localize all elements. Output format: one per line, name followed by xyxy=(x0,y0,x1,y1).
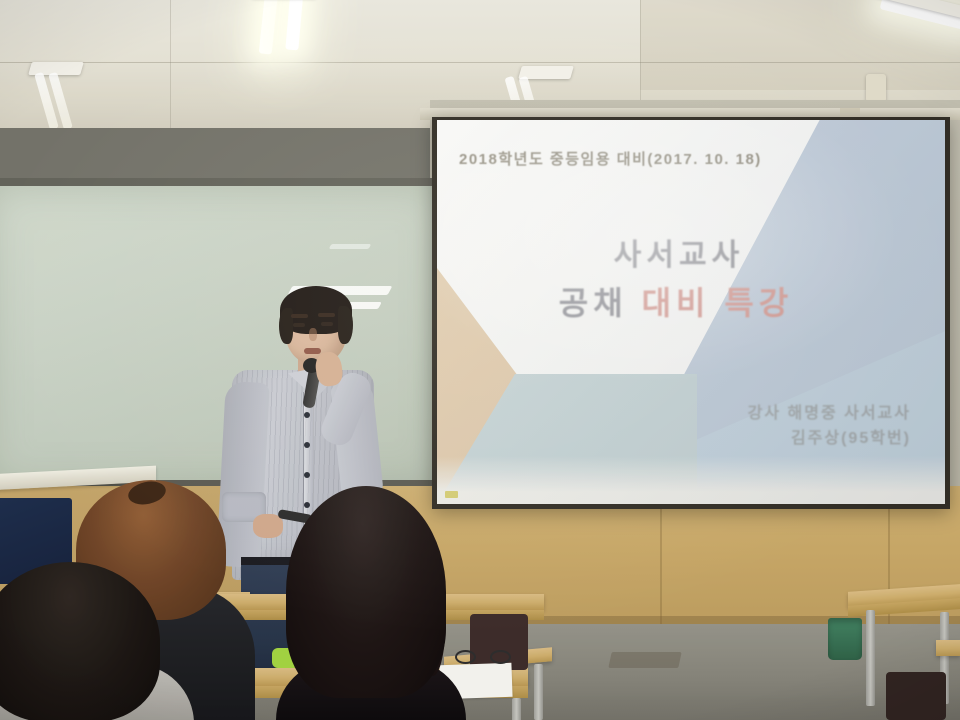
shirt-button xyxy=(304,442,310,448)
floor-vent xyxy=(608,652,681,668)
desk-leg xyxy=(512,698,521,720)
audience-hair xyxy=(286,486,446,698)
presenter-hair-right xyxy=(338,306,353,344)
chair xyxy=(886,672,946,720)
presenter-eye-right xyxy=(321,322,333,326)
desk-surface xyxy=(936,640,960,656)
green-waste-bin xyxy=(828,618,862,660)
shirt-button xyxy=(304,412,310,418)
desk-leg xyxy=(534,664,543,720)
presenter-nose xyxy=(309,328,317,341)
slide-header-text: 2018학년도 중등임용 대비(2017. 10. 18) xyxy=(459,148,762,169)
ceiling-seam xyxy=(0,62,960,63)
slide-title-line-1: 사서교사 xyxy=(437,230,921,274)
slide-title-line-2: 공채 대비 특강 xyxy=(437,278,915,324)
presenter-eyebrow-right xyxy=(318,313,335,317)
desk-leg xyxy=(866,610,875,706)
slide-corner-marker xyxy=(445,491,458,498)
shirt-button xyxy=(304,502,310,508)
eyeglasses xyxy=(455,650,511,660)
slide-presenter-block: 강사 해명중 사서교사 김주상(95학번) xyxy=(748,402,911,452)
slide-presenter-line-1: 강사 해명중 사서교사 xyxy=(748,402,911,427)
slide-shape-white-fade xyxy=(437,456,945,504)
presentation-slide: 2018학년도 중등임용 대비(2017. 10. 18) 사서교사 공채 대비… xyxy=(437,120,945,504)
presenter-mouth xyxy=(304,348,321,354)
shirt-button xyxy=(304,472,310,478)
slide-presenter-line-2: 김주상(95학번) xyxy=(748,427,911,452)
slide-title-plain-part: 공채 xyxy=(559,285,642,321)
slide-title-highlight-part: 대비 특강 xyxy=(642,285,794,321)
presenter-eye-left xyxy=(293,323,305,327)
ceiling-panel-line xyxy=(170,0,171,132)
projection-screen: 2018학년도 중등임용 대비(2017. 10. 18) 사서교사 공채 대비… xyxy=(437,120,945,504)
ceiling-speaker xyxy=(866,74,886,102)
photo-scene: 2018학년도 중등임용 대비(2017. 10. 18) 사서교사 공채 대비… xyxy=(0,0,960,720)
presenter-eyebrow-left xyxy=(291,314,308,318)
